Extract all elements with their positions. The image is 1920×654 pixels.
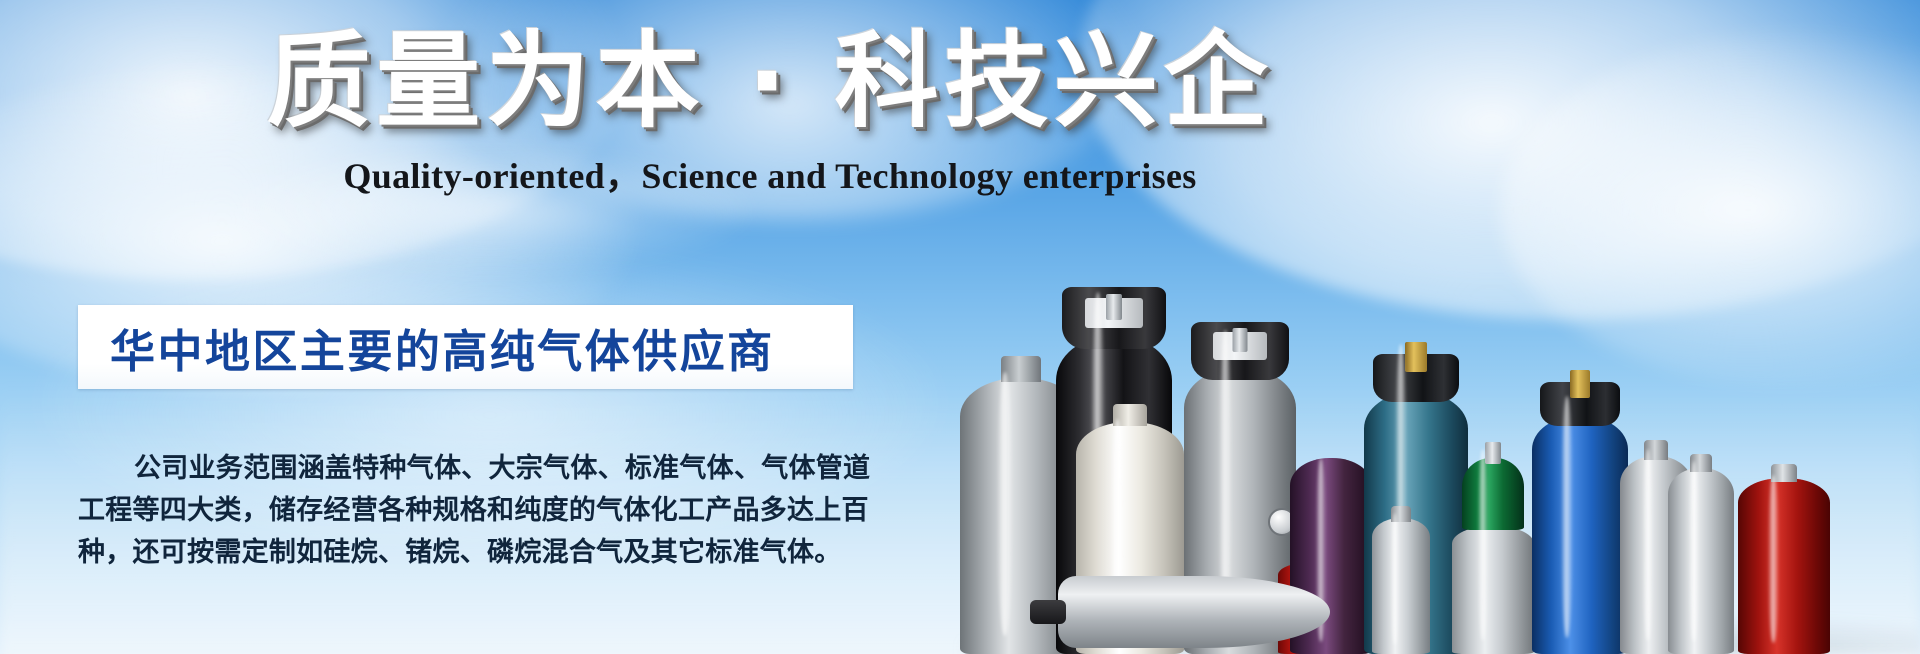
cylinder-dark-red [1738,464,1830,654]
paragraph-line-3: 种，还可按需定制如硅烷、锗烷、磷烷混合气及其它标准气体。 [78,532,888,574]
cylinder-green [1452,436,1534,654]
cylinder-valve-icon [1030,600,1066,624]
promo-banner: 质量为本 · 科技兴企 Quality-oriented，Science and… [0,0,1920,654]
paragraph-line-2: 工程等四大类，储存经营各种规格和纯度的气体化工产品多达上百 [78,490,888,532]
cylinder-aluminium-tall [1668,449,1734,654]
callout-banner: 华中地区主要的高纯气体供应商 [78,305,853,389]
paragraph-line-1: 公司业务范围涵盖特种气体、大宗气体、标准气体、气体管道 [78,448,888,490]
callout-text: 华中地区主要的高纯气体供应商 [78,315,775,380]
cylinder-lying-horizontal [1030,576,1330,648]
headline-block: 质量为本 · 科技兴企 Quality-oriented，Science and… [0,22,1540,199]
cylinder-blue [1532,379,1628,654]
description-paragraph: 公司业务范围涵盖特种气体、大宗气体、标准气体、气体管道 工程等四大类，储存经营各… [78,448,888,574]
headline-subtitle-english: Quality-oriented，Science and Technology … [0,147,1540,199]
headline-slogan: 质量为本 · 科技兴企 [0,22,1540,141]
gas-cylinder-group [960,154,1920,654]
cylinder-aluminium-small [1372,504,1430,654]
